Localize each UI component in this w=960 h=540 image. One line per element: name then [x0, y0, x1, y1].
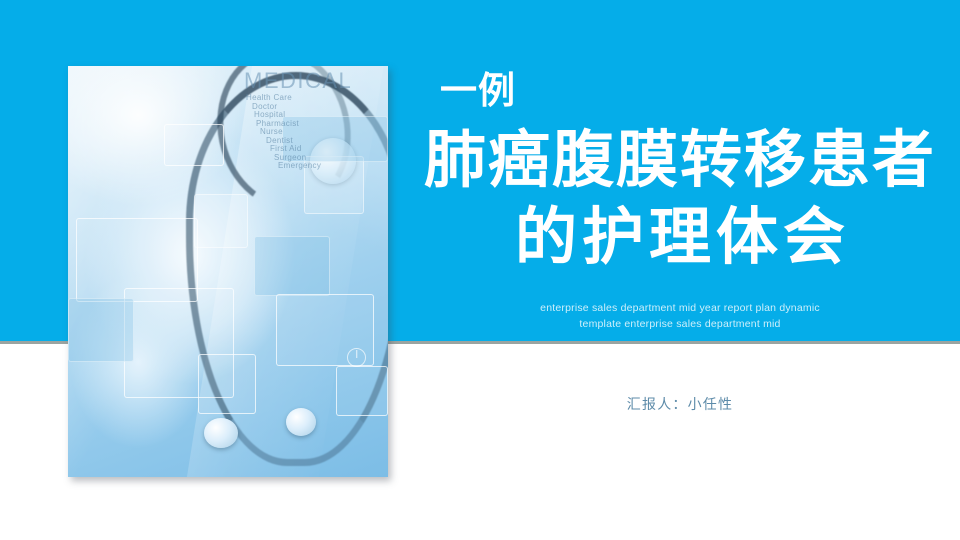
title-block: 一例 肺癌腹膜转移患者 的护理体会 enterprise sales depar… [400, 0, 960, 341]
cover-photo: MEDICAL Health Care Doctor Hospital Phar… [68, 66, 388, 477]
list-item: Nurse [260, 128, 388, 136]
title-slide: MEDICAL Health Care Doctor Hospital Phar… [0, 0, 960, 540]
presenter-line: 汇报人：小任性 [400, 394, 960, 414]
english-subtitle-line1: enterprise sales department mid year rep… [400, 300, 960, 316]
power-icon [347, 348, 366, 367]
stethoscope-eartip-left-icon [204, 418, 238, 448]
english-subtitle-line2: template enterprise sales department mid [400, 316, 960, 332]
page-title: 肺癌腹膜转移患者 [400, 124, 960, 197]
list-item: First Aid [270, 145, 388, 153]
title-eyebrow: 一例 [440, 72, 516, 109]
photo-caption-list: Health Care Doctor Hospital Pharmacist N… [244, 94, 388, 170]
stethoscope-eartip-right-icon [286, 408, 316, 436]
english-subtitle: enterprise sales department mid year rep… [400, 300, 960, 333]
list-item: Emergency [278, 162, 388, 170]
photo-caption-heading: MEDICAL [244, 70, 388, 92]
photo-caption-block: MEDICAL Health Care Doctor Hospital Phar… [244, 70, 388, 171]
list-item: Health Care [246, 94, 388, 102]
list-item: Hospital [254, 111, 388, 119]
page-title-second-line: 的护理体会 [400, 201, 960, 274]
